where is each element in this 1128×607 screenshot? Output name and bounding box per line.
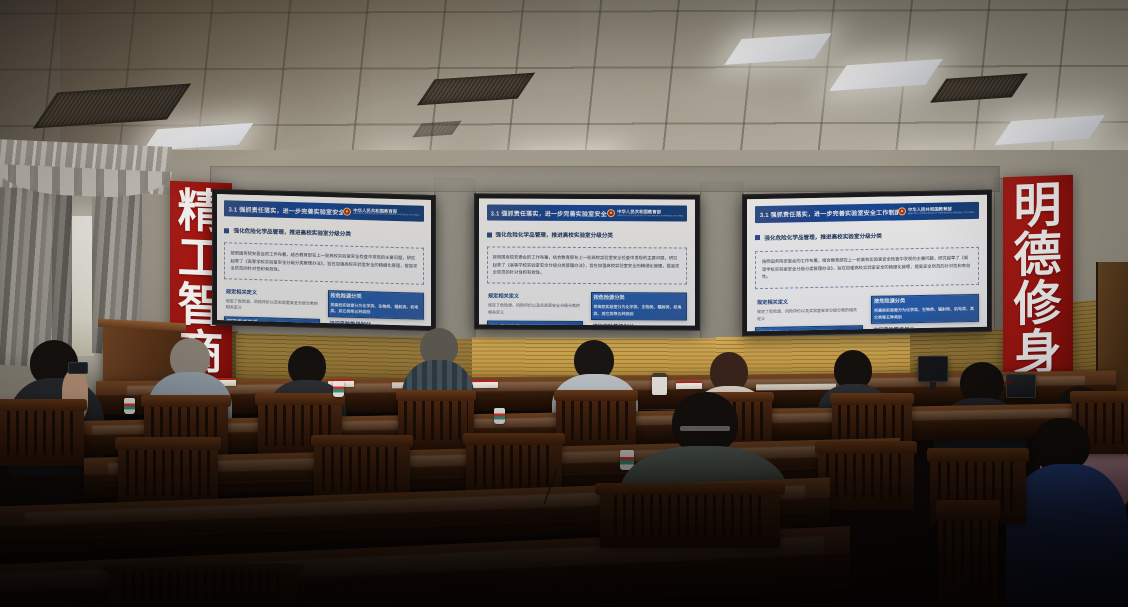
display-center[interactable]: 3.1 强抓责任落实，进一步完善实验室安全工作制度体系 中华人民共和国教育部 M… bbox=[474, 193, 700, 330]
slide-paragraph: 按照国务院安委会的工作布署，结合教育部在上一轮高校实验室安全检查中发现的主要问题… bbox=[755, 247, 978, 289]
chair-r4-3[interactable] bbox=[938, 508, 998, 604]
curtain-mid bbox=[52, 180, 72, 359]
display-left[interactable]: 3.1 强抓责任落实，进一步完善实验室安全工作制度体系 中华人民共和国教育部 M… bbox=[212, 189, 436, 331]
banner-right-char-2: 德 bbox=[1013, 230, 1062, 281]
slide-title: 3.1 强抓责任落实，进一步完善实验室安全工作制度体系 bbox=[491, 208, 608, 218]
chair-r3-4[interactable] bbox=[818, 446, 914, 510]
slide-cell-0: 规定相关定义 规定了危险源、风险评价以及实验室安全分级分类的相关定义 bbox=[755, 296, 862, 326]
banner-right-char-1: 明 bbox=[1013, 181, 1062, 232]
moe-name-en: MINISTRY OF EDUCATION OF THE PEOPLE'S RE… bbox=[908, 212, 974, 215]
slide-cell-3: 进行风险等级划分 制定《实验室安全风险评价表》，对实验室安全风险进行评价和等级划… bbox=[591, 321, 687, 325]
slide-bullet-text: 强化危险化学品管理，推进高校实验室分级分类 bbox=[496, 231, 613, 240]
conference-room-photo: 精 工 智 商 明 德 修 身 3.1 强抓责任落实，进一步完善实验室安全工作制… bbox=[0, 0, 1128, 607]
display-right[interactable]: 3.1 强抓责任落实，进一步完善实验室安全工作制度体系 中华人民共和国教育部 M… bbox=[742, 190, 992, 337]
paper-cup-3 bbox=[494, 408, 505, 424]
slide-titlebar: 3.1 强抓责任落实，进一步完善实验室安全工作制度体系 中华人民共和国教育部 M… bbox=[755, 202, 978, 223]
slide-cell-3-heading: 进行风险等级划分 bbox=[329, 320, 422, 326]
slide-cell-1-body: 将高校实验室分为化学类、生物类、辐射类、机电类、其它类等五种类别 bbox=[874, 306, 976, 321]
wall-banner-right: 明 德 修 身 bbox=[1003, 175, 1073, 393]
slide-cell-2: 明确责任体系 明确了学校—二级单位—实验室三级责任体系及分级分类管理的基本要求 bbox=[224, 316, 320, 326]
slide-bullet-row: 强化危险化学品管理，推进高校实验室分级分类 bbox=[487, 231, 688, 240]
slide-cell-1-heading: 按危险源分类 bbox=[330, 292, 421, 302]
moe-logo: 中华人民共和国教育部 MINISTRY OF EDUCATION OF THE … bbox=[343, 208, 419, 218]
slide-cell-1: 按危险源分类 将高校实验室分为化学类、生物类、辐射类、机电类、其它类等五种类别 bbox=[328, 290, 424, 320]
slide-center: 3.1 强抓责任落实，进一步完善实验室安全工作制度体系 中华人民共和国教育部 M… bbox=[479, 198, 695, 325]
slide-cell-1-heading: 按危险源分类 bbox=[593, 294, 685, 301]
slide-cell-grid: 规定相关定义 规定了危险源、风险评价以及实验室安全分级分类的相关定义 按危险源分… bbox=[224, 287, 423, 326]
slide-cell-3-heading: 进行风险等级划分 bbox=[592, 323, 686, 326]
slide-cell-0: 规定相关定义 规定了危险源、风险评价以及实验室安全分级分类的相关定义 bbox=[224, 287, 320, 317]
slide-cell-0-body: 规定了危险源、风险评价以及实验室安全分级分类的相关定义 bbox=[488, 303, 582, 316]
slide-cell-1-body: 将高校实验室分为化学类、生物类、辐射类、机电类、其它类等五种类别 bbox=[593, 304, 685, 317]
slide-cell-0: 规定相关定义 规定了危险源、风险评价以及实验室安全分级分类的相关定义 bbox=[487, 291, 583, 319]
bullet-square-icon bbox=[224, 228, 229, 233]
nameplate-3 bbox=[472, 380, 498, 388]
moe-logo: 中华人民共和国教育部 MINISTRY OF EDUCATION OF THE … bbox=[898, 206, 974, 215]
slide-title: 3.1 强抓责任落实，进一步完善实验室安全工作制度体系 bbox=[760, 207, 898, 219]
national-emblem-icon bbox=[343, 208, 351, 216]
moe-logo: 中华人民共和国教育部 MINISTRY OF EDUCATION OF THE … bbox=[607, 209, 683, 217]
slide-bullet-row: 强化危险化学品管理，推进高校实验室分级分类 bbox=[755, 230, 978, 242]
national-emblem-icon bbox=[898, 208, 906, 216]
slide-cell-2-heading: 明确责任体系 bbox=[489, 323, 581, 325]
chair-r4-1[interactable] bbox=[108, 566, 298, 607]
slide-bullet-row: 强化危险化学品管理，推进高校实验室分级分类 bbox=[224, 226, 423, 240]
moe-name-en: MINISTRY OF EDUCATION OF THE PEOPLE'S RE… bbox=[617, 215, 683, 217]
slide-title: 3.1 强抓责任落实，进一步完善实验室安全工作制度体系 bbox=[228, 204, 343, 216]
slide-cell-2-heading: 明确责任体系 bbox=[758, 328, 860, 331]
attendee-glasses-icon bbox=[680, 426, 730, 431]
slide-titlebar: 3.1 强抓责任落实，进一步完善实验室安全工作制度体系 中华人民共和国教育部 M… bbox=[224, 201, 423, 222]
slide-cell-1-body: 将高校实验室分为化学类、生物类、辐射类、机电类、其它类等五种类别 bbox=[330, 302, 421, 317]
paper-cup-2 bbox=[333, 381, 344, 397]
wall-panel-above-screens bbox=[210, 166, 1000, 192]
slide-cell-1-heading: 按危险源分类 bbox=[874, 296, 976, 305]
bullet-square-icon bbox=[755, 235, 760, 240]
slide-cell-0-heading: 规定相关定义 bbox=[757, 297, 861, 306]
slide-cell-0-heading: 规定相关定义 bbox=[226, 288, 319, 298]
slide-cell-1: 按危险源分类 将高校实验室分为化学类、生物类、辐射类、机电类、其它类等五种类别 bbox=[871, 293, 978, 323]
slide-cell-1: 按危险源分类 将高校实验室分为化学类、生物类、辐射类、机电类、其它类等五种类别 bbox=[591, 292, 687, 320]
slide-bullet-text: 强化危险化学品管理，推进高校实验室分级分类 bbox=[764, 232, 881, 242]
slide-cell-3: 进行风险等级划分 制定《实验室安全风险评价表》，对实验室安全风险进行评价和等级划… bbox=[871, 323, 978, 331]
slide-cell-2: 明确责任体系 明确了学校—二级单位—实验室三级责任体系及分级分类管理的基本要求 bbox=[487, 321, 583, 326]
wall-panel-between-2-3 bbox=[700, 182, 744, 352]
chair-r4-2[interactable] bbox=[600, 488, 780, 548]
slide-paragraph: 按照国务院安委会的工作布署，结合教育部在上一轮高校实验室安全检查中发现的主要问题… bbox=[487, 247, 688, 285]
slide-cell-grid: 规定相关定义 规定了危险源、风险评价以及实验室安全分级分类的相关定义 按危险源分… bbox=[755, 293, 978, 331]
slide-cell-3-heading: 进行风险等级划分 bbox=[873, 325, 977, 332]
slide-cell-grid: 规定相关定义 规定了危险源、风险评价以及实验室安全分级分类的相关定义 按危险源分… bbox=[487, 291, 688, 325]
slide-left: 3.1 强抓责任落实，进一步完善实验室安全工作制度体系 中华人民共和国教育部 M… bbox=[217, 194, 431, 326]
moe-name-en: MINISTRY OF EDUCATION OF THE PEOPLE'S RE… bbox=[353, 213, 419, 217]
national-emblem-icon bbox=[607, 209, 615, 217]
slide-titlebar: 3.1 强抓责任落实，进一步完善实验室安全工作制度体系 中华人民共和国教育部 M… bbox=[487, 205, 688, 222]
paper-cup-1 bbox=[124, 398, 135, 414]
slide-paragraph: 按照国务院安委会的工作布署，结合教育部在上一轮高校实验室安全检查中发现的主要问题… bbox=[224, 242, 423, 284]
banner-right-char-3: 修 bbox=[1013, 279, 1062, 330]
bullet-square-icon bbox=[487, 232, 492, 237]
chair-r3-1[interactable] bbox=[118, 442, 218, 508]
slide-cell-3: 进行风险等级划分 制定《实验室安全风险评价表》，对实验室安全风险进行评价和等级划… bbox=[328, 319, 424, 326]
slide-cell-0-heading: 规定相关定义 bbox=[488, 293, 582, 300]
slide-cell-0-body: 规定了危险源、风险评价以及实验室安全分级分类的相关定义 bbox=[757, 307, 861, 322]
slide-cell-2-heading: 明确责任体系 bbox=[227, 319, 318, 326]
slide-cell-2: 明确责任体系 明确了学校—二级单位—实验室三级责任体系及分级分类管理的基本要求 bbox=[755, 325, 862, 331]
attendee-phone[interactable] bbox=[68, 362, 88, 374]
slide-right: 3.1 强抓责任落实，进一步完善实验室安全工作制度体系 中华人民共和国教育部 M… bbox=[747, 195, 987, 332]
attendee-head bbox=[672, 392, 738, 454]
slide-cell-0-body: 规定了危险源、风险评价以及实验室安全分级分类的相关定义 bbox=[226, 298, 319, 313]
slide-bullet-text: 强化危险化学品管理，推进高校实验室分级分类 bbox=[233, 227, 350, 238]
chair-r2-1[interactable] bbox=[0, 404, 84, 466]
